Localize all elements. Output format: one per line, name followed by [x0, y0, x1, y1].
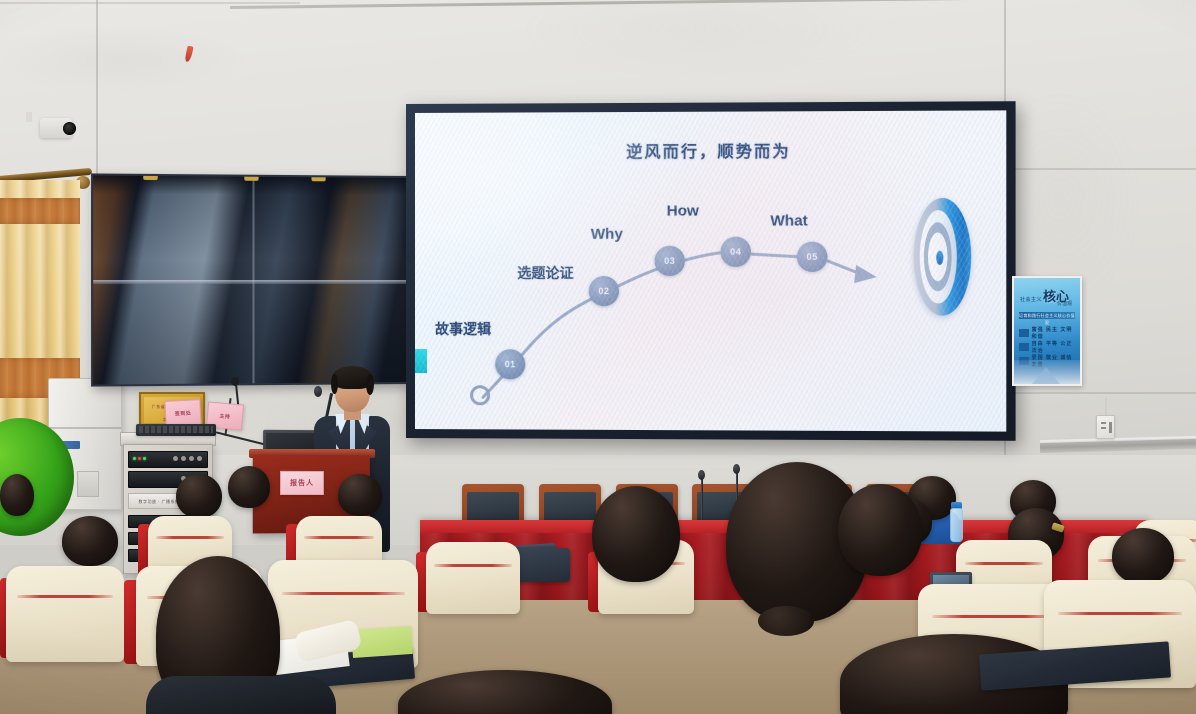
blackboard-clip: [244, 176, 258, 181]
signin-card-text: 签到处: [175, 409, 192, 417]
auditorium-seat[interactable]: [426, 542, 520, 614]
table-microphone-head: [698, 470, 705, 480]
poster-headline-small2: 价值观: [1057, 300, 1072, 307]
poster-subtitle-bar: 培育和践行社会主义核心价值观: [1019, 312, 1075, 319]
audience-head: [1112, 528, 1174, 584]
core-values-poster: 社会主义 核心 价值观 培育和践行社会主义核心价值观 富强 民主 文明 和谐 自…: [1012, 276, 1082, 386]
poster-row: 自由 平等 公正 法治: [1019, 342, 1080, 351]
knob[interactable]: [189, 456, 194, 461]
flow-label-01: 故事逻辑: [435, 319, 491, 339]
audience-head: [838, 484, 922, 576]
flow-start-node: [470, 385, 490, 405]
auditorium-seat[interactable]: [6, 566, 124, 662]
podium-name-text: 报告人: [290, 478, 314, 488]
poster-subtitle: 培育和践行社会主义核心价值观: [1019, 312, 1075, 326]
curtain-band: [0, 198, 80, 224]
host-card-text: 主持: [219, 412, 231, 420]
table-microphone-stem: [701, 478, 703, 526]
knob[interactable]: [173, 456, 178, 461]
slide-accent-tab: [415, 349, 427, 373]
audience-head: [228, 466, 270, 508]
presenter-hair-side: [366, 374, 374, 395]
poster-row: 富强 民主 文明 和谐: [1019, 328, 1080, 337]
status-led: [133, 457, 136, 460]
security-camera-icon: [40, 118, 72, 138]
console-microphone-head: [231, 377, 239, 386]
wall-seam: [1004, 168, 1196, 170]
flow-node-02[interactable]: 02: [589, 276, 619, 306]
poster-row-text: 自由 平等 公正 法治: [1032, 340, 1080, 354]
blackboard-clip: [143, 175, 158, 180]
poster-headline: 社会主义 核心 价值观: [1019, 288, 1075, 308]
status-led: [138, 457, 141, 460]
flow-node-05[interactable]: 05: [797, 242, 828, 272]
audience-head: [62, 516, 118, 566]
podium-name-card: 报告人: [280, 471, 324, 495]
cabinet-seam: [49, 427, 121, 429]
camera-mount: [26, 112, 32, 122]
poster-row-badge: [1019, 343, 1029, 351]
amplifier-leds: [133, 457, 146, 460]
knob[interactable]: [181, 456, 186, 461]
audience-head: [176, 474, 222, 518]
presenter-hair-side: [331, 374, 338, 394]
knob[interactable]: [197, 456, 202, 461]
water-bottle: [950, 508, 963, 542]
blackboard-seam-horizontal: [93, 280, 408, 284]
audience-head: [338, 474, 382, 516]
lecture-hall-scene: 逆风而行，顺势而为 01 02 03 04 05 故事逻辑 选题论证 Why H…: [0, 0, 1196, 714]
status-led: [143, 457, 146, 460]
power-outlet-icon: [1096, 415, 1115, 439]
control-keyboard[interactable]: [136, 424, 216, 436]
flow-label-05: What: [770, 212, 807, 229]
poster-row-text: 富强 民主 文明 和谐: [1032, 326, 1080, 340]
flow-node-03[interactable]: 03: [655, 246, 685, 276]
ceiling-trim-line-left: [0, 2, 300, 4]
wall-seam: [1004, 392, 1196, 394]
blackboard-clip: [311, 176, 325, 181]
amplifier-unit[interactable]: [128, 451, 208, 468]
table-microphone-head: [733, 464, 740, 474]
poster-headline-small: 社会主义: [1020, 296, 1042, 303]
amplifier-knobs[interactable]: [173, 456, 202, 461]
led-display-bezel: 逆风而行，顺势而为 01 02 03 04 05 故事逻辑 选题论证 Why H…: [406, 101, 1016, 441]
audience-hair-bun: [758, 606, 814, 636]
blackboard: [91, 173, 410, 386]
bullseye-target-icon: [914, 198, 972, 316]
flow-node-01[interactable]: 01: [495, 349, 525, 379]
audience-head: [0, 474, 34, 516]
flow-label-02: 选题论证: [517, 263, 573, 283]
poster-row-badge: [1019, 329, 1029, 337]
target-bullseye: [936, 251, 943, 265]
presentation-screen[interactable]: 逆风而行，顺势而为 01 02 03 04 05 故事逻辑 选题论证 Why H…: [415, 110, 1006, 431]
cabinet-panel: [77, 471, 99, 497]
audience-head: [592, 486, 680, 582]
poster-mountain-graphic: [1014, 360, 1080, 384]
flow-label-03: Why: [591, 226, 623, 243]
flow-label-04: How: [667, 202, 699, 219]
audience-shoulders: [146, 676, 336, 714]
flow-node-04[interactable]: 04: [720, 237, 751, 267]
signin-name-card: 签到处: [164, 399, 201, 427]
